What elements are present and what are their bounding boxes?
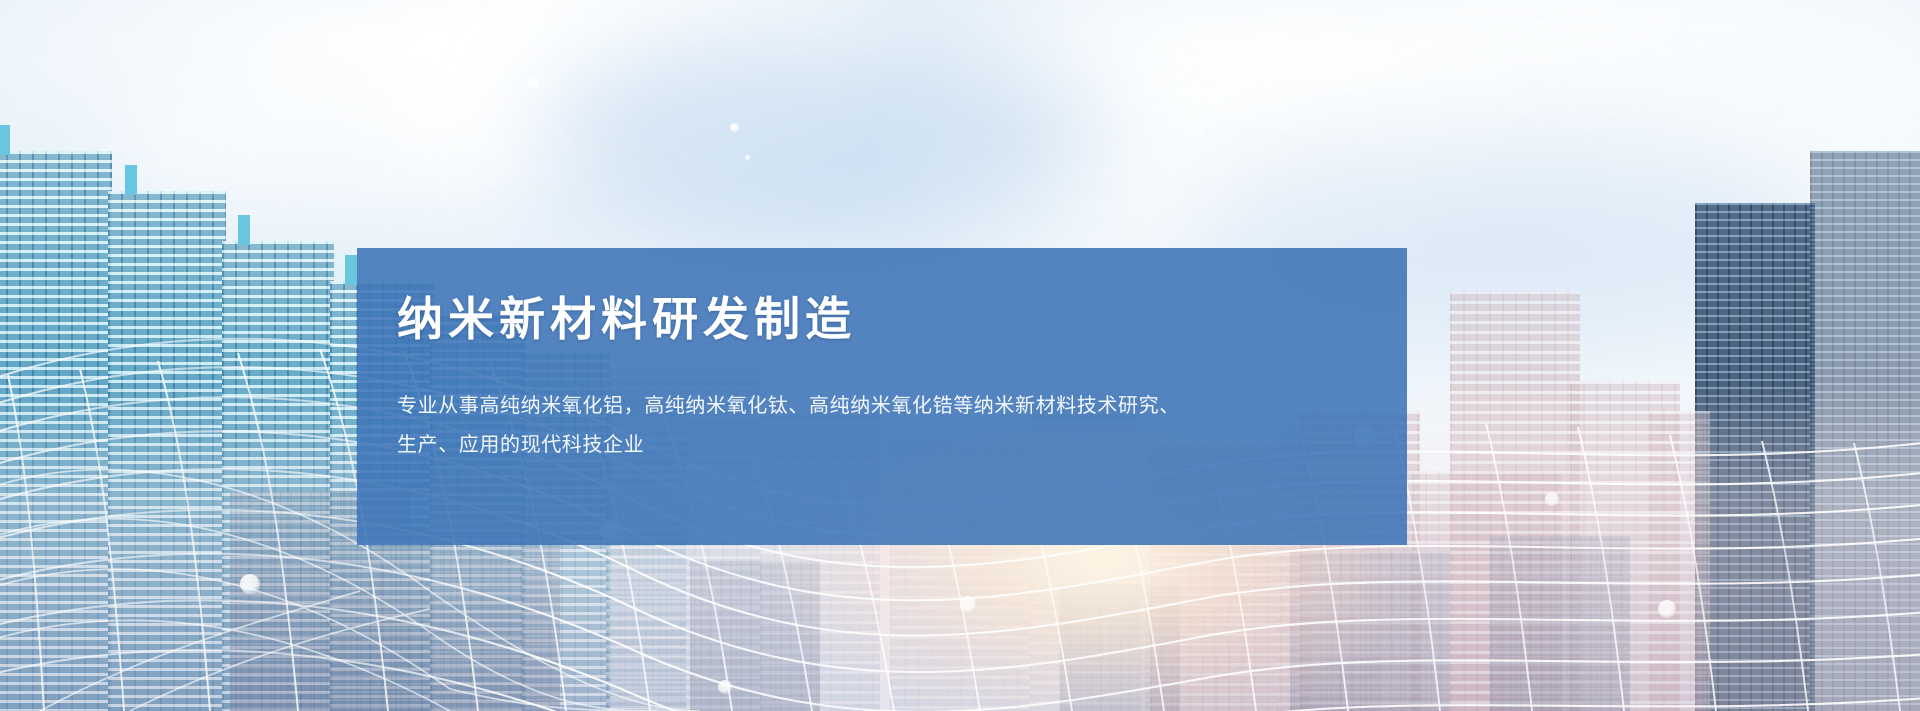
hero-banner: 纳米新材料研发制造 专业从事高纯纳米氧化铝，高纯纳米氧化钛、高纯纳米氧化锆等纳米… — [0, 0, 1920, 711]
hero-description-line-1: 专业从事高纯纳米氧化铝，高纯纳米氧化钛、高纯纳米氧化锆等纳米新材料技术研究、 — [397, 387, 1367, 426]
hero-description-line-2: 生产、应用的现代科技企业 — [397, 426, 1367, 465]
page-title: 纳米新材料研发制造 — [397, 292, 1367, 347]
hero-text-panel: 纳米新材料研发制造 专业从事高纯纳米氧化铝，高纯纳米氧化钛、高纯纳米氧化锆等纳米… — [357, 248, 1407, 545]
hero-description: 专业从事高纯纳米氧化铝，高纯纳米氧化钛、高纯纳米氧化锆等纳米新材料技术研究、 生… — [397, 387, 1367, 465]
